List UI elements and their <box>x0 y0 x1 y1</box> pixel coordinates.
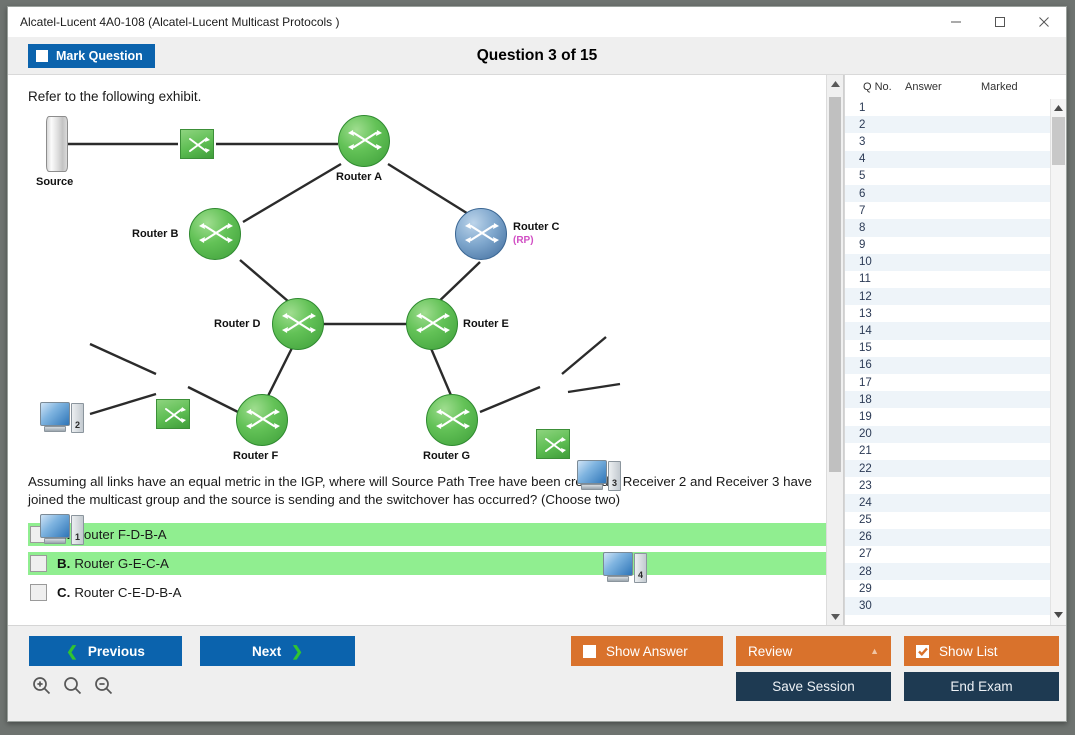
question-row-number: 5 <box>845 170 901 182</box>
question-row-number: 17 <box>845 377 901 389</box>
receiver-pc-3: 3 <box>577 460 623 494</box>
question-row-number: 3 <box>845 136 901 148</box>
monitor-stand <box>44 426 66 432</box>
answer-checkbox-c[interactable] <box>30 584 47 601</box>
link-routerG-switch3 <box>480 387 540 412</box>
zoom-controls <box>32 676 113 700</box>
answer-text-b: Router G-E-C-A <box>74 556 169 571</box>
receiver-pc-4: 4 <box>603 552 649 586</box>
router-label-c: Router C <box>513 221 559 233</box>
question-list-row[interactable]: 28 <box>845 563 1050 580</box>
question-list-row[interactable]: 6 <box>845 185 1050 202</box>
router-icon-a <box>338 115 390 167</box>
list-scroll-up-button[interactable] <box>1051 99 1066 116</box>
monitor-icon <box>603 552 633 576</box>
question-row-number: 6 <box>845 188 901 200</box>
question-list-row[interactable]: 5 <box>845 168 1050 185</box>
show-answer-checkbox[interactable] <box>583 645 596 658</box>
title-bar: Alcatel-Lucent 4A0-108 (Alcatel-Lucent M… <box>8 7 1066 37</box>
router-icon-b <box>189 208 241 260</box>
question-list-panel: Q No. Answer Marked 12345678910111213141… <box>844 75 1066 625</box>
receiver-pc-2: 2 <box>40 402 86 436</box>
monitor-stand <box>44 538 66 544</box>
zoom-in-icon[interactable] <box>32 676 51 700</box>
tower-label-4: 4 <box>634 553 647 583</box>
question-list-row[interactable]: 9 <box>845 237 1050 254</box>
footer-toolbar: ❮ Previous Next ❯ Show Answer Review ▲ S… <box>8 625 1066 721</box>
question-row-number: 26 <box>845 531 901 543</box>
scroll-up-button[interactable] <box>827 75 843 92</box>
link-switch2-pc2 <box>90 344 156 374</box>
router-label-g: Router G <box>423 450 470 462</box>
show-answer-button[interactable]: Show Answer <box>571 636 723 666</box>
window-controls <box>934 7 1066 37</box>
tower-label-3: 3 <box>608 461 621 491</box>
question-list-row[interactable]: 19 <box>845 408 1050 425</box>
switch-arrows-icon <box>537 430 571 460</box>
router-node-c: Router C (RP) <box>455 208 507 260</box>
router-label-e: Router E <box>463 318 509 330</box>
answer-option-c[interactable]: C. Router C-E-D-B-A <box>28 581 838 604</box>
question-text: Assuming all links have an equal metric … <box>28 473 818 509</box>
question-row-number: 2 <box>845 119 901 131</box>
question-row-number: 24 <box>845 497 901 509</box>
show-answer-label: Show Answer <box>606 644 688 659</box>
chevron-up-icon: ▲ <box>870 646 879 656</box>
link-switch3-pc3 <box>562 337 606 374</box>
question-list-row[interactable]: 7 <box>845 202 1050 219</box>
question-content: Refer to the following exhibit. <box>8 75 843 604</box>
router-node-b: Router B <box>189 208 241 260</box>
review-dropdown-button[interactable]: Review ▲ <box>736 636 891 666</box>
question-list-row[interactable]: 24 <box>845 494 1050 511</box>
mark-question-button[interactable]: Mark Question <box>28 44 155 68</box>
question-row-number: 18 <box>845 394 901 406</box>
tower-label-1: 1 <box>71 515 84 545</box>
save-session-label: Save Session <box>772 679 855 694</box>
question-list-body: 1234567891011121314151617181920212223242… <box>845 99 1066 625</box>
router-arrows-icon <box>237 395 289 447</box>
question-list-row[interactable]: 10 <box>845 254 1050 271</box>
question-list-row[interactable]: 12 <box>845 288 1050 305</box>
previous-button[interactable]: ❮ Previous <box>29 636 182 666</box>
show-list-button[interactable]: Show List <box>904 636 1059 666</box>
question-list-row[interactable]: 29 <box>845 580 1050 597</box>
router-label-f: Router F <box>233 450 278 462</box>
question-row-number: 15 <box>845 342 901 354</box>
question-list-row[interactable]: 8 <box>845 219 1050 236</box>
question-list-row[interactable]: 3 <box>845 133 1050 150</box>
source-label: Source <box>36 176 73 188</box>
question-list-row[interactable]: 14 <box>845 322 1050 339</box>
question-row-number: 10 <box>845 256 901 268</box>
list-scroll-thumb[interactable] <box>1052 117 1065 165</box>
router-arrows-icon <box>427 395 479 447</box>
question-row-number: 22 <box>845 463 901 475</box>
switch-arrows-icon <box>181 130 215 160</box>
question-list-row[interactable]: 27 <box>845 546 1050 563</box>
answer-text-c: Router C-E-D-B-A <box>74 585 181 600</box>
content-scrollbar[interactable] <box>826 75 843 625</box>
question-rows: 1234567891011121314151617181920212223242… <box>845 99 1050 625</box>
question-row-number: 1 <box>845 102 901 114</box>
monitor-stand <box>581 484 603 490</box>
maximize-icon <box>994 16 1006 28</box>
question-list-row[interactable]: 2 <box>845 116 1050 133</box>
switch-icon-3 <box>536 429 570 459</box>
question-list-row[interactable]: 20 <box>845 426 1050 443</box>
zoom-out-icon[interactable] <box>94 676 113 700</box>
question-row-number: 29 <box>845 583 901 595</box>
question-list-row[interactable]: 23 <box>845 477 1050 494</box>
question-list-row[interactable]: 30 <box>845 597 1050 614</box>
router-icon-c-rp <box>455 208 507 260</box>
router-node-d: Router D <box>272 298 324 350</box>
answer-letter-c: C. <box>57 585 70 600</box>
source-node: Source <box>46 116 68 172</box>
next-button[interactable]: Next ❯ <box>200 636 355 666</box>
link-switch2-pc1 <box>90 394 156 414</box>
question-row-number: 7 <box>845 205 901 217</box>
question-list-row[interactable]: 11 <box>845 271 1050 288</box>
monitor-icon <box>577 460 607 484</box>
monitor-stand <box>607 576 629 582</box>
question-list-row[interactable]: 17 <box>845 374 1050 391</box>
router-arrows-icon <box>273 299 325 351</box>
network-topology-diagram: Source <box>28 112 828 467</box>
router-icon-e <box>406 298 458 350</box>
switch-icon-2 <box>156 399 190 429</box>
review-label: Review <box>748 644 792 659</box>
question-row-number: 9 <box>845 239 901 251</box>
switch-icon-1 <box>180 129 214 159</box>
next-label: Next <box>252 644 281 659</box>
link-routerA-routerB <box>243 164 341 222</box>
save-session-button[interactable]: Save Session <box>736 672 891 701</box>
question-row-number: 23 <box>845 480 901 492</box>
question-list-row[interactable]: 16 <box>845 357 1050 374</box>
chevron-down-icon <box>831 614 840 620</box>
zoom-reset-icon[interactable] <box>63 676 82 700</box>
answer-option-b[interactable]: B. Router G-E-C-A <box>28 552 838 575</box>
monitor-icon <box>40 514 70 538</box>
router-arrows-icon <box>456 209 508 261</box>
question-list-row[interactable]: 26 <box>845 529 1050 546</box>
question-row-number: 30 <box>845 600 901 612</box>
router-icon-d <box>272 298 324 350</box>
question-row-number: 25 <box>845 514 901 526</box>
router-label-a: Router A <box>336 171 382 183</box>
switch-arrows-icon <box>157 400 191 430</box>
previous-label: Previous <box>88 644 145 659</box>
show-list-label: Show List <box>939 644 998 659</box>
chevron-up-icon <box>831 81 840 87</box>
mark-question-checkbox[interactable] <box>36 50 48 62</box>
minimize-button[interactable] <box>934 7 978 37</box>
end-exam-button[interactable]: End Exam <box>904 672 1059 701</box>
question-counter: Question 3 of 15 <box>8 47 1066 65</box>
router-icon-g <box>426 394 478 446</box>
router-label-b: Router B <box>132 228 178 240</box>
exhibit-lead-text: Refer to the following exhibit. <box>28 89 843 104</box>
question-row-number: 21 <box>845 445 901 457</box>
list-scroll-down-button[interactable] <box>1051 606 1066 623</box>
column-header-marked: Marked <box>981 81 1053 93</box>
chevron-left-icon: ❮ <box>66 643 78 660</box>
router-arrows-icon <box>190 209 242 261</box>
rp-label: (RP) <box>513 235 534 246</box>
link-switch3-pc4 <box>568 384 620 392</box>
router-arrows-icon <box>407 299 459 351</box>
question-list-row[interactable]: 21 <box>845 443 1050 460</box>
question-list-header: Q No. Answer Marked <box>845 75 1066 99</box>
close-icon <box>1038 16 1050 28</box>
exam-window: Alcatel-Lucent 4A0-108 (Alcatel-Lucent M… <box>7 6 1067 722</box>
end-exam-label: End Exam <box>950 679 1012 694</box>
answer-checkbox-b[interactable] <box>30 555 47 572</box>
question-list-row[interactable]: 25 <box>845 512 1050 529</box>
question-list-row[interactable]: 4 <box>845 151 1050 168</box>
question-content-pane: Refer to the following exhibit. <box>8 75 844 625</box>
router-icon-f <box>236 394 288 446</box>
header-bar: Mark Question Question 3 of 15 <box>8 37 1066 75</box>
question-list-row[interactable]: 22 <box>845 460 1050 477</box>
body-area: Refer to the following exhibit. <box>8 75 1066 625</box>
router-node-g: Router G <box>426 394 478 446</box>
chevron-right-icon: ❯ <box>291 643 303 660</box>
mark-question-label: Mark Question <box>56 49 143 63</box>
check-icon <box>918 647 928 656</box>
question-row-number: 12 <box>845 291 901 303</box>
question-row-number: 20 <box>845 428 901 440</box>
question-row-number: 13 <box>845 308 901 320</box>
router-arrows-icon <box>339 116 391 168</box>
monitor-icon <box>40 402 70 426</box>
source-cylinder-icon <box>46 116 68 172</box>
router-node-a: Router A <box>338 115 390 167</box>
maximize-button[interactable] <box>978 7 1022 37</box>
question-list-row[interactable]: 15 <box>845 340 1050 357</box>
question-list-row[interactable]: 18 <box>845 391 1050 408</box>
window-title: Alcatel-Lucent 4A0-108 (Alcatel-Lucent M… <box>8 15 339 29</box>
question-list-row[interactable]: 1 <box>845 99 1050 116</box>
content-scroll-thumb[interactable] <box>829 97 841 472</box>
link-routerE-routerG <box>430 346 453 400</box>
column-header-qno: Q No. <box>849 81 905 93</box>
answer-options: A. Router F-D-B-A B. Router G-E-C-A C. R… <box>28 523 838 604</box>
chevron-down-icon <box>1054 612 1063 618</box>
question-row-number: 14 <box>845 325 901 337</box>
column-header-answer: Answer <box>905 81 981 93</box>
scroll-down-button[interactable] <box>827 608 843 625</box>
question-row-number: 11 <box>845 273 901 285</box>
question-list-scrollbar[interactable] <box>1050 99 1066 625</box>
question-list-row[interactable]: 13 <box>845 305 1050 322</box>
router-node-f: Router F <box>236 394 288 446</box>
receiver-pc-1: 1 <box>40 514 86 548</box>
minimize-icon <box>950 16 962 28</box>
answer-text-a: Router F-D-B-A <box>74 527 166 542</box>
question-row-number: 27 <box>845 548 901 560</box>
show-list-checkbox[interactable] <box>916 645 929 658</box>
link-routerD-routerF <box>266 346 293 400</box>
answer-letter-b: B. <box>57 556 70 571</box>
link-routerF-switch2 <box>188 387 238 412</box>
router-label-d: Router D <box>214 318 260 330</box>
question-row-number: 8 <box>845 222 901 234</box>
question-row-number: 28 <box>845 566 901 578</box>
question-row-number: 19 <box>845 411 901 423</box>
answer-option-a[interactable]: A. Router F-D-B-A <box>28 523 838 546</box>
chevron-up-icon <box>1054 105 1063 111</box>
router-node-e: Router E <box>406 298 458 350</box>
question-row-number: 4 <box>845 153 901 165</box>
close-button[interactable] <box>1022 7 1066 37</box>
tower-label-2: 2 <box>71 403 84 433</box>
question-row-number: 16 <box>845 359 901 371</box>
